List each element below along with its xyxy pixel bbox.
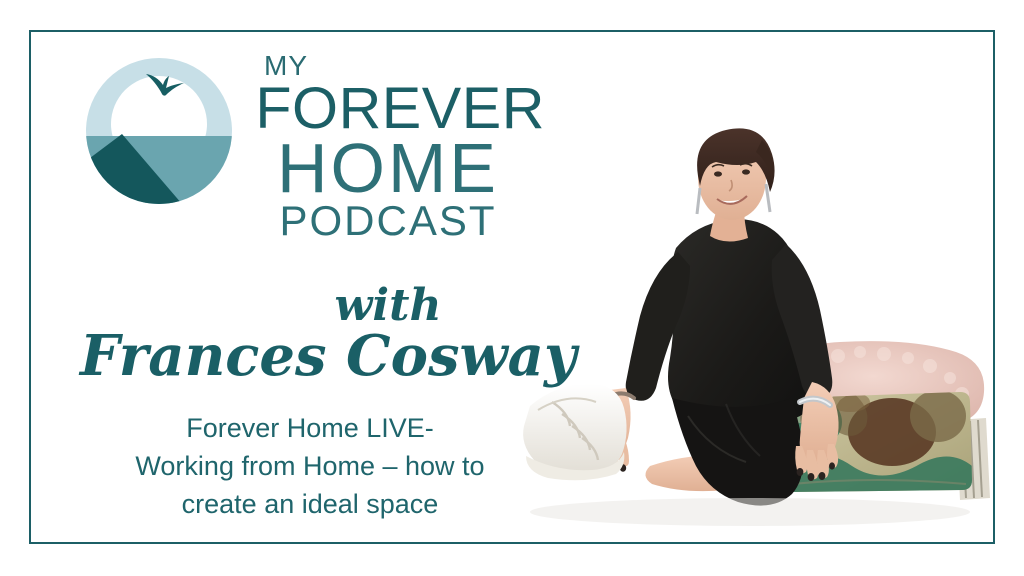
wordmark: MY FOREVER HOME PODCAST <box>258 52 518 242</box>
host-photo-illustration <box>500 120 1000 550</box>
podcast-episode-cover: MY FOREVER HOME PODCAST with Frances Cos… <box>0 0 1024 576</box>
branding-block: MY FOREVER HOME PODCAST with Frances Cos… <box>60 52 520 482</box>
logo-mark <box>86 58 232 204</box>
seagull-icon <box>144 70 186 100</box>
host-name: Frances Cosway <box>80 328 520 384</box>
episode-title-line-1: Forever Home LIVE- <box>100 410 520 448</box>
host-photo <box>500 120 1000 550</box>
wordmark-home: HOME <box>258 135 518 202</box>
land-shape <box>86 118 232 204</box>
with-label: with <box>258 284 518 328</box>
episode-title: Forever Home LIVE- Working from Home – h… <box>100 410 520 523</box>
episode-title-line-3: create an ideal space <box>100 486 520 524</box>
episode-title-line-2: Working from Home – how to <box>100 448 520 486</box>
white-sneaker <box>523 384 626 480</box>
